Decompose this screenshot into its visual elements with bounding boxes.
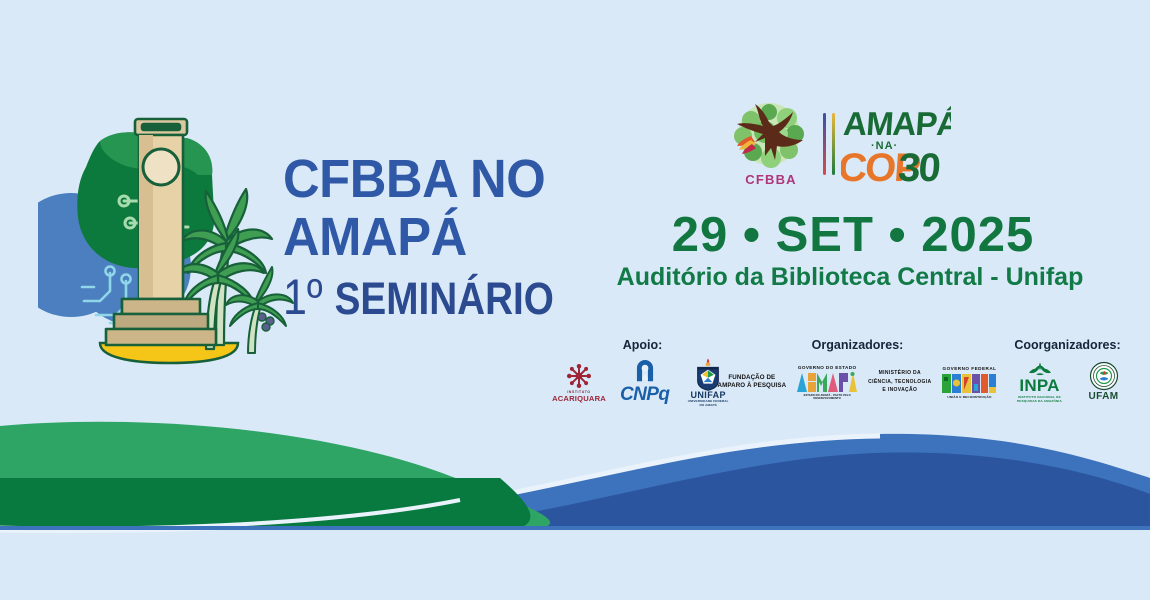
sponsor-group-apoio: Apoio: [555,338,730,406]
partner-logos-top: CFBBA AMAPÁ ·NA· COP 30 [725,96,951,192]
title-line-2: AMAPÁ [283,208,574,266]
logo-governo-amapa: GOVERNO DO ESTADO ESTADO DO AMAPÁ · PACT… [796,365,858,400]
gov-amapa-header: GOVERNO DO ESTADO [798,365,857,370]
sponsor-logos-row: Apoio: [555,338,1150,416]
acariquara-caption: ACARIQUARA [552,395,606,403]
amapa-na-cop30-logo: AMAPÁ ·NA· COP 30 [841,101,951,187]
logo-cnpq: CNPq [613,359,676,406]
sponsor-group-label: Coorganizadores: [1014,338,1120,352]
acai-berry [262,323,270,331]
ufam-seal-icon [1089,361,1119,391]
inpa-wordmark: INPA [1019,377,1059,394]
cfbba-logo: CFBBA [725,98,817,190]
seminar-word: SEMINÁRIO [335,273,554,324]
acariquara-mark-icon [564,361,594,391]
inpa-leaf-icon [1027,361,1053,377]
ufam-wordmark: UFAM [1089,392,1119,403]
sponsor-group-organizadores: Organizadores: FUNDAÇÃO DE AMPARO À PESQ… [730,338,985,406]
event-title-block: CFBBA NO AMAPÁ 1º SEMINÁRIO [283,150,593,327]
event-venue: Auditório da Biblioteca Central - Unifap [600,263,1100,292]
cnpq-wordmark: CNPq [620,384,669,406]
inpa-caption-sub: INSTITUTO NACIONAL DE PESQUISAS DA AMAZÔ… [1009,395,1071,403]
sponsor-group-label: Organizadores: [812,338,904,352]
divider-bar-left [823,113,826,175]
logo-acariquara: INSTITUTO ACARIQUARA [555,361,603,403]
gov-amapa-footer: ESTADO DO AMAPÁ · PACTO PELO DESENVOLVIM… [796,394,858,400]
event-date: 29 • SET • 2025 [618,209,1088,261]
logo-ufam: UFAM [1081,361,1127,403]
mcti-line-2: CIÊNCIA, TECNOLOGIA [868,378,931,387]
cop-line-amapa: AMAPÁ [842,105,951,143]
title-line-1: CFBBA NO [283,150,574,208]
decorative-waves [0,420,1150,600]
event-banner: CFBBA NO AMAPÁ 1º SEMINÁRIO [0,0,1150,600]
logo-divider [823,113,826,175]
title-line-3: 1º SEMINÁRIO [283,269,550,327]
cfbba-wordmark: CFBBA [745,172,797,187]
logo-divider-right [832,113,835,175]
logo-inpa: INPA INSTITUTO NACIONAL DE PESQUISAS DA … [1009,361,1071,403]
logo-mcti: MINISTÉRIO DA CIÊNCIA, TECNOLOGIA E INOV… [868,369,931,395]
logo-fapeap: FUNDAÇÃO DE AMPARO À PESQUISA [718,374,787,391]
cnpq-mark-icon [634,359,656,383]
amapa-illustration [38,105,298,370]
sponsor-group-coorganizadores: Coorganizadores: INPA INS [985,338,1150,406]
seminar-ordinal: 1º [283,269,323,325]
divider-bar-right [832,113,835,175]
amapa-wordmark-icon [796,371,858,393]
fapeap-line-1: FUNDAÇÃO DE [728,374,775,382]
mcti-line-3: E INOVAÇÃO [882,386,917,395]
unifap-caption-sub: UNIVERSIDADE FEDERAL DO AMAPÁ [686,400,730,406]
acai-berry [258,313,266,321]
cop-line-30: 30 [897,146,941,187]
sponsor-group-label: Apoio: [623,338,663,352]
mcti-line-1: MINISTÉRIO DA [879,369,921,378]
wave-base [0,526,1150,530]
fapeap-line-2: AMPARO À PESQUISA [718,382,787,390]
